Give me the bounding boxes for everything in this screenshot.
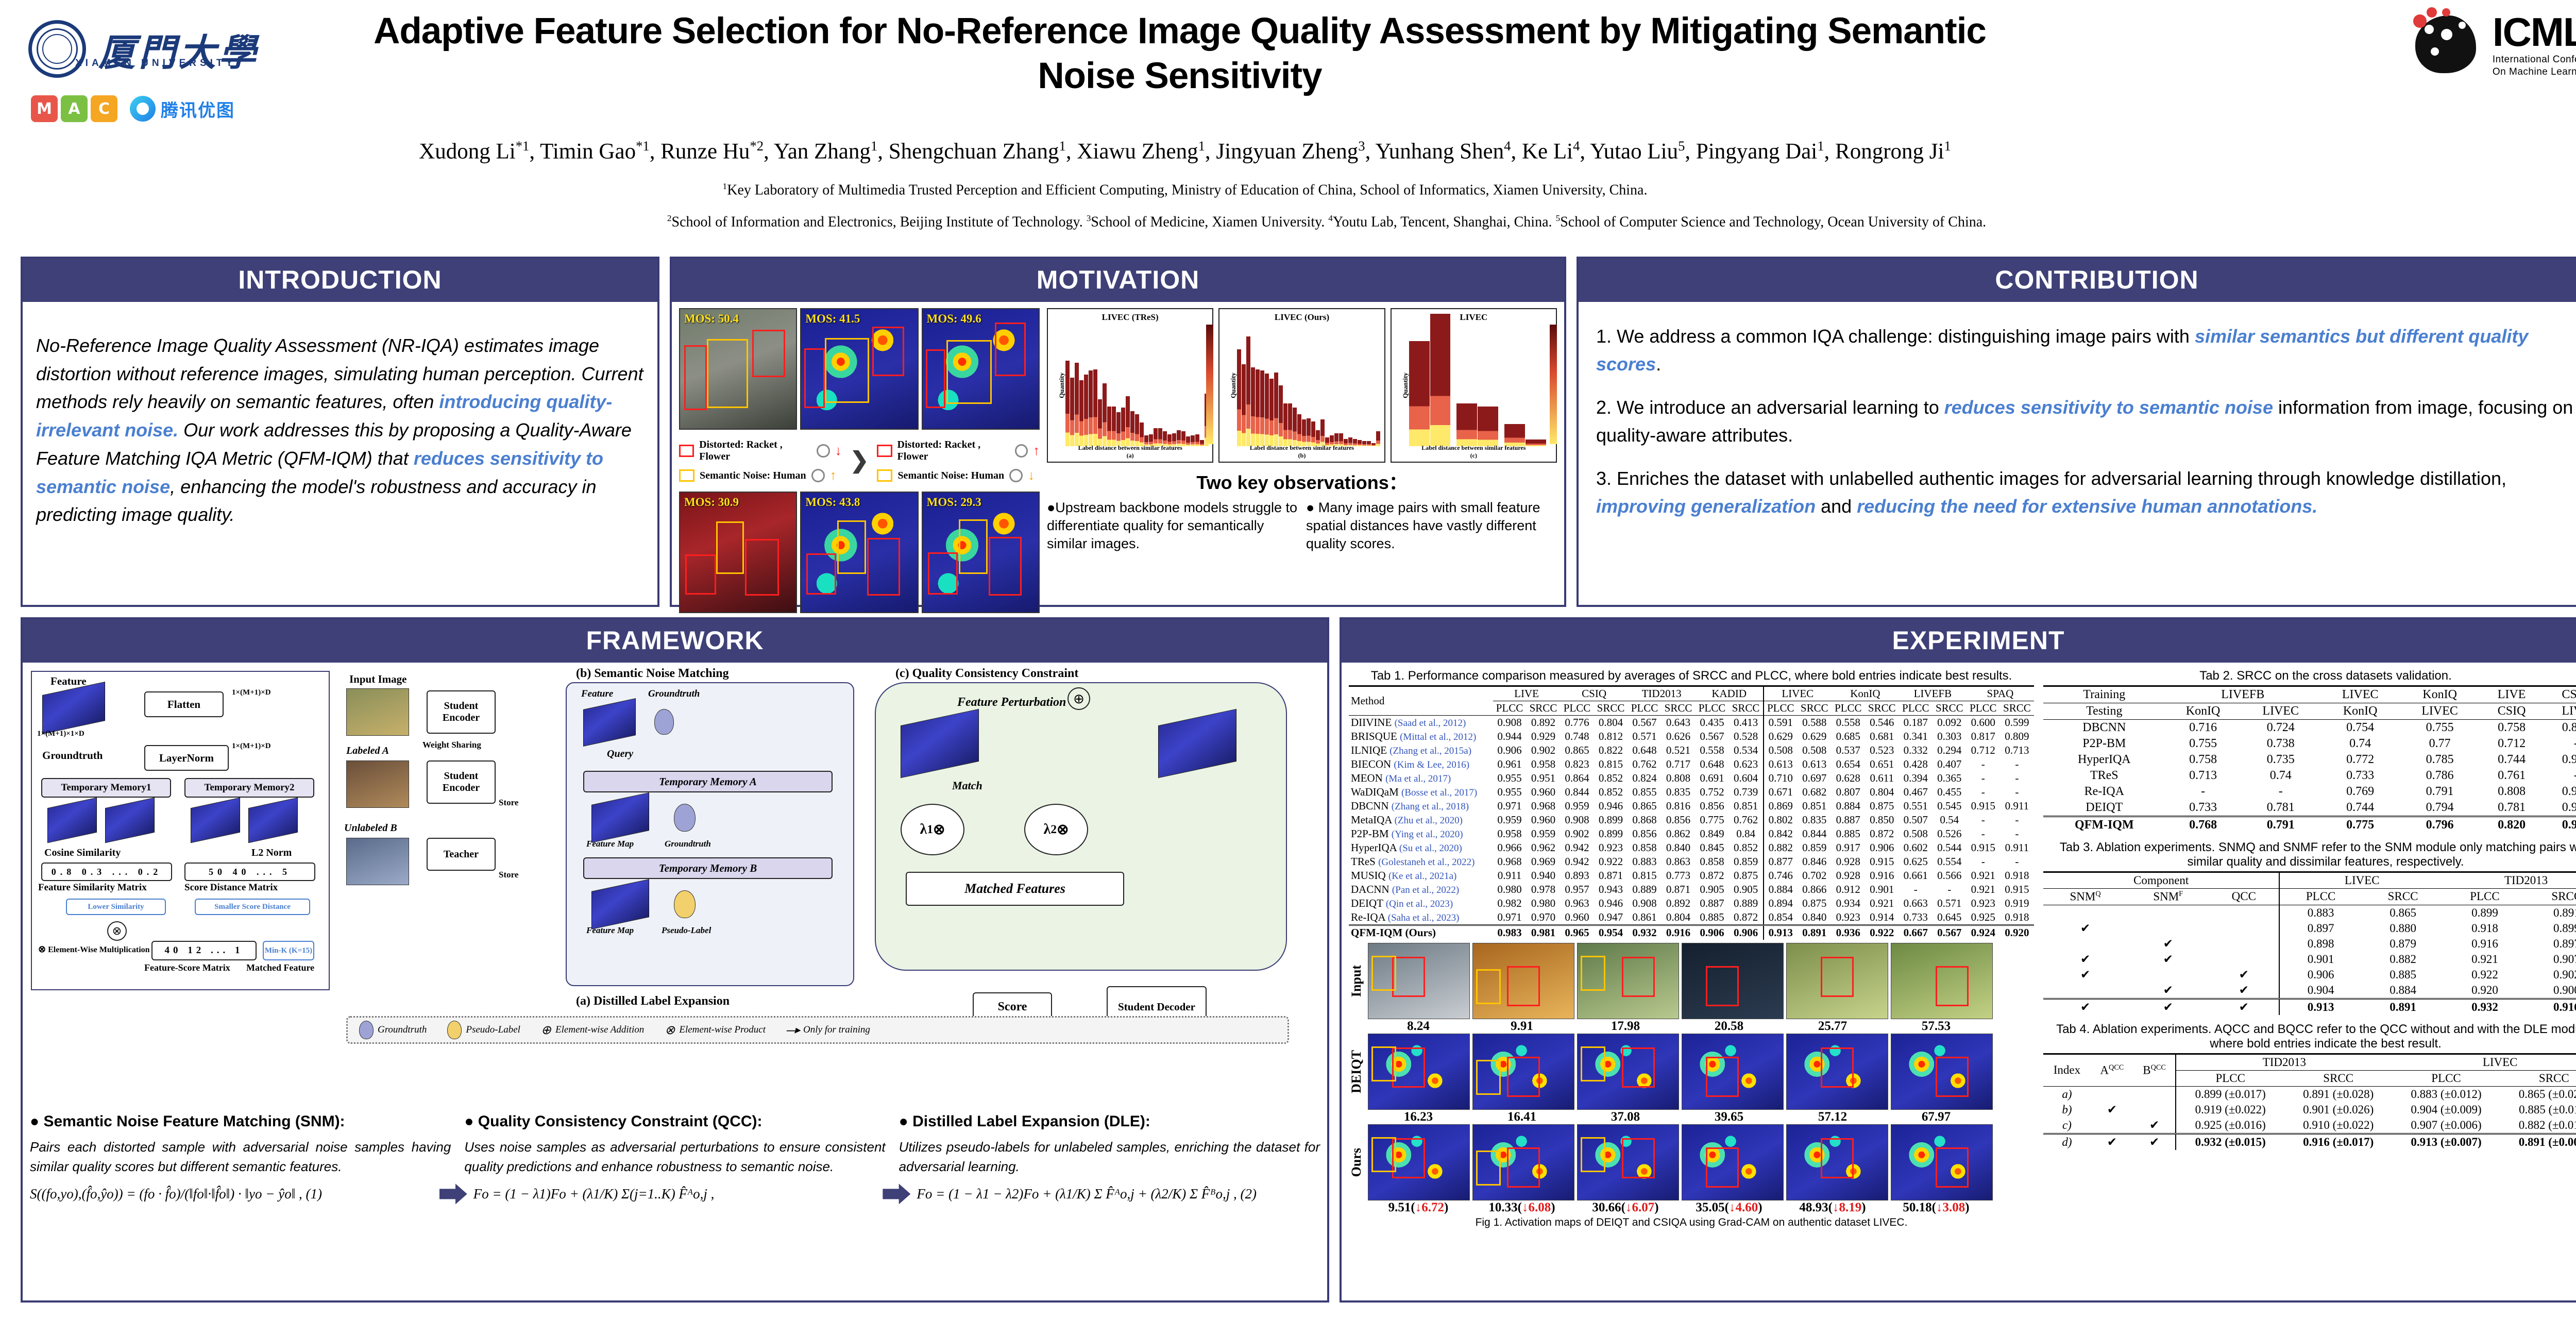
metric-value: 0.919 <box>2000 897 2034 910</box>
metric-value: 0.891 <box>2526 905 2576 921</box>
column-header: PLCC <box>2444 889 2525 905</box>
metric-value: 0.871 <box>1594 869 1628 883</box>
metric-value: 0.865 <box>1628 799 1662 813</box>
metric-value: 0.685 <box>1832 730 1865 743</box>
activation-map-cell <box>1368 1034 1470 1110</box>
bar <box>1293 408 1297 446</box>
block-temporary-memory-a[interactable]: Temporary Memory A <box>583 771 833 792</box>
experiment-body: Tab 1. Performance comparison measured b… <box>1342 663 2576 1234</box>
block-teacher[interactable]: Teacher <box>427 838 496 871</box>
metric-value: - <box>2000 771 2034 785</box>
plain-text: and <box>1816 496 1857 517</box>
metric-value: 0.960 <box>1561 910 1594 925</box>
metric-value: 0.710 <box>1764 771 1798 785</box>
metric-value: 0.923 <box>1967 897 2000 910</box>
metric-value: 0.940 <box>1526 869 1560 883</box>
checkmark-cell: ✔ <box>2127 952 2209 967</box>
method-name: P2P-BM (Ying et al., 2020) <box>1349 827 1493 841</box>
metric-value: 0.983 <box>1493 925 1527 940</box>
activation-map-cell <box>1682 1124 1784 1200</box>
testing-dataset: KonIQ <box>2165 703 2241 720</box>
framework-heading: FRAMEWORK <box>23 619 1327 663</box>
metric-value: 0.901 <box>2279 952 2362 967</box>
metric-value: 0.925 (±0.016) <box>2176 1118 2284 1134</box>
figure-1-activation-maps: Input <box>1349 943 2034 1215</box>
metric-value: 0.877 <box>1764 855 1798 869</box>
table-row: DEIQT (Qin et al., 2023)0.9820.9800.9630… <box>1349 897 2034 910</box>
xiamen-english-name: XIAMEN UNIVERSITY <box>75 58 236 69</box>
bar <box>1297 414 1301 446</box>
metric-value: 0.643 <box>1661 716 1695 730</box>
bar <box>1302 419 1306 446</box>
cross-dataset-table: TrainingLIVEFBLIVECKonIQLIVECSIQTestingK… <box>2043 685 2576 833</box>
column-header-index: Index <box>2043 1054 2091 1086</box>
metric-value: 0.835 <box>1661 785 1695 799</box>
srcc-value: 0.781 <box>2241 800 2320 817</box>
metric-value: 0.663 <box>1899 897 1933 910</box>
metric-value: 0.858 <box>1696 855 1729 869</box>
bar <box>1070 378 1074 446</box>
group-header: LIVEC <box>2392 1054 2576 1070</box>
metric-value: 0.852 <box>1594 771 1628 785</box>
semantic-noise-swatch-icon <box>877 469 892 482</box>
metric-header: SRCC <box>1933 701 1967 716</box>
metric-value: 0.648 <box>1628 743 1662 757</box>
flow-arrow-icon <box>439 1183 467 1204</box>
activation-map-cell <box>1577 1124 1679 1200</box>
srcc-value: 0.74 <box>2320 736 2400 752</box>
label-query: Query <box>607 748 633 760</box>
metric-value: 0.913 <box>2279 999 2362 1015</box>
tab1-table: MethodLIVECSIQTID2013KADIDLIVECKonIQLIVE… <box>1349 685 2034 940</box>
metric-value: 0.628 <box>1832 771 1865 785</box>
group-header: TID2013 <box>2444 872 2576 889</box>
metric-value: 0.905 <box>1728 883 1763 897</box>
metric-value: 0.842 <box>1764 827 1798 841</box>
bar <box>1135 414 1139 446</box>
metric-value: 0.883 <box>1628 855 1662 869</box>
chart-xlabel: Label distance between similar features(… <box>1392 444 1556 460</box>
block-student-encoder-1[interactable]: Student Encoder <box>427 690 496 734</box>
checkmark-cell <box>2043 936 2127 952</box>
method-citation: (Saad et al., 2012) <box>1395 718 1466 729</box>
method-name: WaDIQaM (Bosse et al., 2017) <box>1349 785 1493 799</box>
metric-value: 0.815 <box>1594 757 1628 771</box>
table-row: QFM-IQM0.7680.7910.7750.7960.8200.941 <box>2043 817 2576 834</box>
metric-value: 0.844 <box>1798 827 1832 841</box>
figure-score: 25.77 <box>1782 1019 1883 1034</box>
metric-value: 0.866 <box>1798 883 1832 897</box>
metric-value: 0.816 <box>1661 799 1695 813</box>
figure-1-caption: Fig 1. Activation maps of DEIQT and CSIQ… <box>1349 1216 2034 1229</box>
motivation-legend-left: Distorted: Racket , Flower ↓ Semantic No… <box>679 434 842 487</box>
legend-product: Element-wise Product <box>679 1024 766 1036</box>
table-row: MetaIQA (Zhu et al., 2020)0.9590.9600.90… <box>1349 813 2034 827</box>
metric-value: 0.922 <box>2444 967 2525 983</box>
icml-logo: ICML International Conference On Machine… <box>2415 11 2576 77</box>
metric-value: 0.613 <box>1764 757 1798 771</box>
row-index: d) <box>2043 1134 2091 1150</box>
bar <box>1279 385 1283 446</box>
label-feature-perturbation: Feature Perturbation <box>957 696 1066 709</box>
metric-value: 0.899 <box>1594 813 1628 827</box>
table-row: c)✔0.925 (±0.016)0.910 (±0.022)0.907 (±0… <box>2043 1118 2576 1134</box>
metric-value: 0.911 <box>1493 869 1527 883</box>
page-title: Adaptive Feature Selection for No-Refere… <box>330 9 2030 98</box>
method-citation: (Qin et al., 2023) <box>1386 899 1453 909</box>
table-row: ✔✔0.9040.8840.9200.900 <box>2043 983 2576 999</box>
metric-value: 0.712 <box>1967 743 2000 757</box>
table-row: ILNIQE (Zhang et al., 2015a)0.9060.9020.… <box>1349 743 2034 757</box>
metric-value: 0.875 <box>1798 897 1832 910</box>
figure-score: 48.93(↓8.19) <box>1782 1200 1883 1215</box>
checkmark-cell <box>2127 921 2209 936</box>
metric-value: 0.924 <box>1967 925 2000 940</box>
metric-value: 0.591 <box>1764 716 1798 730</box>
method-name: MUSIQ (Ke et al., 2021a) <box>1349 869 1493 883</box>
figure-score: 30.66(↓6.07) <box>1575 1200 1676 1215</box>
chart-bars <box>1409 327 1552 446</box>
metric-value: 0.869 <box>1764 799 1798 813</box>
label-feature-similarity-matrix: Feature Similarity Matrix <box>38 882 147 893</box>
legend-label-noise: Semantic Noise: Human <box>897 470 1004 482</box>
metric-value: - <box>1899 883 1933 897</box>
label-gt-a: Groundtruth <box>665 839 711 849</box>
metric-value: 0.932 (±0.015) <box>2176 1134 2284 1150</box>
bar <box>1065 361 1070 446</box>
metric-value: 0.802 <box>1764 813 1798 827</box>
experiment-heading: EXPERIMENT <box>1342 619 2576 663</box>
metric-value: 0.394 <box>1899 771 1933 785</box>
checkmark-cell: ✔ <box>2043 967 2127 983</box>
figure-score-row: 8.249.9117.9820.5825.7757.53 <box>1368 1019 2034 1034</box>
metric-value: 0.893 <box>1561 869 1594 883</box>
groundtruth-icon <box>359 1021 374 1039</box>
label-feature-map-a: Feature Map <box>586 839 634 849</box>
activation-map-cell <box>1682 1034 1784 1110</box>
bar <box>1242 364 1246 446</box>
metric-value: 0.921 <box>2444 952 2525 967</box>
metric-header: PLCC <box>1696 701 1729 716</box>
times-circle-icon: ⊗ <box>665 1023 675 1038</box>
framework-column-text: Uses noise samples as adversarial pertur… <box>464 1138 885 1176</box>
label-feature-b: Feature <box>581 688 613 700</box>
row-label-training: Training <box>2043 686 2165 703</box>
table-row: d)✔✔0.932 (±0.015)0.916 (±0.017)0.913 (±… <box>2043 1134 2576 1150</box>
metric-value: 0.959 <box>1493 813 1527 827</box>
srcc-value: 0.755 <box>2400 720 2479 736</box>
circle-icon <box>1015 444 1028 458</box>
srcc-value: 0.744 <box>2480 752 2544 768</box>
metric-value: 0.928 <box>1832 855 1865 869</box>
metric-value: 0.907 (±0.006) <box>2392 1118 2500 1134</box>
pseudo-label-icon <box>447 1021 462 1039</box>
checkmark-cell: ✔ <box>2209 983 2279 999</box>
figure-row-label: Input <box>1349 965 1365 997</box>
checkmark-cell: ✔ <box>2043 999 2127 1015</box>
metric-value: 0.84 <box>1728 827 1763 841</box>
metric-value: 0.809 <box>2000 730 2034 743</box>
figure-score: 57.53 <box>1886 1019 1987 1034</box>
metric-value: 0.942 <box>1561 855 1594 869</box>
method-citation: (Zhang et al., 2015a) <box>1389 746 1471 756</box>
metric-value: 0.566 <box>1933 869 1967 883</box>
metric-value: 0.980 <box>1493 883 1527 897</box>
metric-value: 0.717 <box>1661 757 1695 771</box>
plain-text: 1. We address a common IQA challenge: di… <box>1596 326 2195 347</box>
metric-value: 0.854 <box>1764 910 1798 925</box>
figure-score: 16.23 <box>1368 1110 1469 1124</box>
chart-3: LIVEC Quantity Label distance between si… <box>1391 308 1557 463</box>
block-temporary-memory-1[interactable]: Temporary Memory1 <box>41 778 171 798</box>
figure-score: 8.24 <box>1368 1019 1469 1034</box>
introduction-text: No-Reference Image Quality Assessment (N… <box>36 332 644 529</box>
metric-value: 0.852 <box>1594 785 1628 799</box>
metric-value: 0.921 <box>1967 883 2000 897</box>
plain-text: . <box>1656 353 1661 375</box>
bar <box>1237 349 1241 446</box>
metric-value: 0.682 <box>1798 785 1832 799</box>
column-header-aqcc: AQCC <box>2091 1054 2133 1086</box>
metric-value: 0.544 <box>1933 841 1967 855</box>
icml-subtitle-2: On Machine Learning <box>2493 67 2576 77</box>
metric-value: 0.883 (±0.012) <box>2392 1086 2500 1102</box>
mac-letter-m: M <box>31 95 58 122</box>
metric-value: 0.915 <box>2000 883 2034 897</box>
metric-value: 0.902 <box>1526 743 1560 757</box>
metric-value: 0.957 <box>1561 883 1594 897</box>
checkmark-cell <box>2133 1086 2176 1102</box>
ablation-table-4: IndexAQCCBQCCTID2013LIVECPLCCSRCCPLCCSRC… <box>2043 1053 2576 1150</box>
metric-value: 0.920 <box>2444 983 2525 999</box>
metric-value: 0.365 <box>1933 771 1967 785</box>
metric-value: 0.932 <box>2444 999 2525 1015</box>
contribution-item-1: 1. We address a common IQA challenge: di… <box>1596 323 2576 378</box>
metric-value: 0.187 <box>1899 716 1933 730</box>
framework-column-text: Utilizes pseudo-labels for unlabeled sam… <box>899 1138 1320 1176</box>
metric-value: 0.863 <box>1661 855 1695 869</box>
checkmark-cell <box>2127 967 2209 983</box>
table-row: TReS0.7130.740.7330.7860.761- <box>2043 768 2576 784</box>
metric-value: 0.891 (±0.009) <box>2500 1134 2576 1150</box>
metric-value: 0.898 <box>2279 936 2362 952</box>
metric-value: 0.835 <box>1798 813 1832 827</box>
arrow-up-icon: ↑ <box>830 468 837 483</box>
metric-value: 0.54 <box>1933 813 1967 827</box>
metric-value: 0.901 <box>1865 883 1899 897</box>
metric-header: SRCC <box>1728 701 1763 716</box>
label-pseudo-label-b: Pseudo-Label <box>662 925 711 936</box>
block-student-encoder-2[interactable]: Student Encoder <box>427 760 496 804</box>
metric-value: 0.773 <box>1661 869 1695 883</box>
icml-subtitle-1: International Conference <box>2493 55 2576 64</box>
sample-image-original-bottom: MOS: 30.9 <box>679 492 797 613</box>
metric-value: 0.934 <box>1832 897 1865 910</box>
checkmark-cell <box>2127 905 2209 921</box>
metric-value: 0.913 (±0.007) <box>2392 1134 2500 1150</box>
block-temporary-memory-2[interactable]: Temporary Memory2 <box>184 778 314 798</box>
metric-value: 0.521 <box>1661 743 1695 757</box>
table-row: Re-IQA--0.7690.7910.8080.929 <box>2043 784 2576 800</box>
testing-dataset: KonIQ <box>2320 703 2400 720</box>
bar <box>1456 403 1477 446</box>
metric-value: 0.804 <box>1661 910 1695 925</box>
training-dataset: LIVEFB <box>2165 686 2320 703</box>
metric-value: 0.852 <box>1728 841 1763 855</box>
training-dataset: LIVE <box>2480 686 2544 703</box>
sample-image-heat-top-1: MOS: 41.5 <box>800 308 918 430</box>
metric-value: 0.551 <box>1899 799 1933 813</box>
metric-header: PLCC <box>1832 701 1865 716</box>
label-store-1: Store <box>499 798 518 808</box>
metric-value: 0.872 <box>1696 869 1729 883</box>
bar <box>1140 422 1144 446</box>
table-row: WaDIQaM (Bosse et al., 2017)0.9550.9600.… <box>1349 785 2034 799</box>
metric-value: 0.966 <box>1493 841 1527 855</box>
column-header: SRCC <box>2526 889 2576 905</box>
motivation-row-top: MOS: 50.4 MOS: 41.5 MOS: 49.6 <box>679 308 1040 430</box>
metric-value: 0.508 <box>1899 827 1933 841</box>
framework-columns: ● Semantic Noise Feature Matching (SNM):… <box>30 1113 1320 1176</box>
label-labeled-set: Labeled A <box>346 745 389 757</box>
metric-value: 0.872 <box>1865 827 1899 841</box>
framework-equations: S((fo,yo),(f̂o,ŷo)) = (fo · f̂o)/(‖fo‖·‖… <box>30 1183 1320 1204</box>
block-temporary-memory-b[interactable]: Temporary Memory B <box>583 857 833 879</box>
table-row: Re-IQA (Saha et al., 2023)0.9710.9700.96… <box>1349 910 2034 925</box>
activation-map-cell <box>1891 943 1993 1019</box>
tab1-caption: Tab 1. Performance comparison measured b… <box>1349 669 2034 683</box>
highlight-text: reducing the need for extensive human an… <box>1857 496 2317 517</box>
metric-value: 0.968 <box>1493 855 1527 869</box>
introduction-heading: INTRODUCTION <box>23 259 657 302</box>
metric-value: 0.885 <box>2362 967 2444 983</box>
metric-value: 0.804 <box>1594 716 1628 730</box>
method-name: TReS (Golestaneh et al., 2022) <box>1349 855 1493 869</box>
metric-value: 0.920 <box>2000 925 2034 940</box>
training-dataset: KonIQ <box>2400 686 2479 703</box>
arrow-down-icon: ↓ <box>1028 468 1035 483</box>
table-row: HyperIQA (Su et al., 2020)0.9660.9620.94… <box>1349 841 2034 855</box>
table-row: ✔0.8970.8800.9180.899 <box>2043 921 2576 936</box>
label-smaller-score-distance: Smaller Score Distance <box>195 899 310 915</box>
observations: ●Upstream backbone models struggle to di… <box>1047 499 1557 553</box>
introduction-body: No-Reference Image Quality Assessment (N… <box>23 302 657 559</box>
figure-row-ours: Ours <box>1349 1124 2034 1200</box>
distorted-swatch-icon <box>679 445 694 457</box>
bar <box>1504 424 1525 446</box>
metric-value: 0.915 <box>1967 841 2000 855</box>
metric-value: 0.906 <box>1865 841 1899 855</box>
thumb-input-image <box>346 688 409 736</box>
matrix-similarity-values: 0.8 0.3 ... 0.2 <box>41 863 172 881</box>
icon-pseudo-label-b <box>674 890 696 918</box>
metric-value: 0.823 <box>1561 757 1594 771</box>
metric-value: 0.623 <box>1728 757 1763 771</box>
metric-value: 0.861 <box>1628 910 1662 925</box>
metric-value: 0.965 <box>1561 925 1594 940</box>
metric-value: 0.875 <box>1865 799 1899 813</box>
mos-label: MOS: 43.8 <box>805 496 860 509</box>
table-row: P2P-BM0.7550.7380.740.770.712- <box>2043 736 2576 752</box>
metric-value: 0.776 <box>1561 716 1594 730</box>
metric-value: 0.467 <box>1899 785 1933 799</box>
chart-title: LIVEC <box>1395 312 1553 323</box>
metric-value: 0.822 <box>1594 743 1628 757</box>
metric-value: 0.567 <box>1696 730 1729 743</box>
label-feature-score-matrix: Feature-Score Matrix <box>144 962 230 973</box>
block-flatten[interactable]: Flatten <box>144 691 224 717</box>
motivation-body: MOS: 50.4 MOS: 41.5 MOS: 49.6 <box>672 302 1564 643</box>
label-groundtruth-b: Groundtruth <box>648 688 700 700</box>
metric-value: 0.611 <box>1865 771 1899 785</box>
equation-1: S((fo,yo),(f̂o,ŷo)) = (fo · f̂o)/(‖fo‖·‖… <box>30 1186 433 1202</box>
group-header: LIVEC <box>2279 872 2444 889</box>
label-weight-sharing: Weight Sharing <box>422 740 481 750</box>
metric-value: 0.702 <box>1798 869 1832 883</box>
metric-header: SRCC <box>1798 701 1832 716</box>
metric-value: 0.571 <box>1628 730 1662 743</box>
figure-score: 10.33(↓6.08) <box>1471 1200 1572 1215</box>
metric-header: SRCC <box>1661 701 1695 716</box>
method-citation: (Saha et al., 2023) <box>1388 912 1460 923</box>
column-header: SRCC <box>2284 1070 2392 1086</box>
checkmark-cell <box>2209 921 2279 936</box>
metric-header: SRCC <box>2000 701 2034 716</box>
srcc-value: 0.781 <box>2480 800 2544 817</box>
icon-gt-a <box>674 804 696 832</box>
checkmark-cell: ✔ <box>2209 999 2279 1015</box>
metric-value: 0.912 <box>1832 883 1865 897</box>
metric-value: 0.918 <box>2444 921 2525 936</box>
activation-map-cell <box>1786 1124 1888 1200</box>
testing-dataset: CSIQ <box>2480 703 2544 720</box>
icml-title: ICML <box>2493 12 2576 52</box>
method-name: BRISQUE (Mittal et al., 2012) <box>1349 730 1493 743</box>
srcc-value: 0.758 <box>2165 752 2241 768</box>
metric-header: PLCC <box>1493 701 1527 716</box>
chart-title: LIVEC (TReS) <box>1051 312 1209 323</box>
equation-2: Fo = (1 − λ1)Fo + (λ1/K) Σ(j=1..K) F̂ᴬo,… <box>473 1186 877 1202</box>
mos-label: MOS: 49.6 <box>927 312 981 326</box>
icml-brain-icon <box>2415 11 2481 77</box>
observation-2: ● Many image pairs with small feature sp… <box>1306 499 1557 553</box>
method-name: Re-IQA <box>2043 784 2165 800</box>
table-row: ✔✔0.9010.8820.9210.907 <box>2043 952 2576 967</box>
metric-value: 0.918 <box>2000 869 2034 883</box>
metric-value: 0.921 <box>1865 897 1899 910</box>
metric-value: 0.916 <box>2526 999 2576 1015</box>
table-row: DBCNN (Zhang et al., 2018)0.9710.9680.95… <box>1349 799 2034 813</box>
column-header: SNMQ <box>2043 889 2127 905</box>
metric-value: 0.971 <box>1493 799 1527 813</box>
srcc-value: 0.772 <box>2320 752 2400 768</box>
sample-image-heat-bottom-2: MOS: 29.3 <box>922 492 1040 613</box>
metric-value: 0.916 <box>1865 869 1899 883</box>
checkmark-cell: ✔ <box>2043 921 2127 936</box>
metric-value: 0.982 <box>1493 897 1527 910</box>
matrix-score-values: 50 40 ... 5 <box>184 863 315 881</box>
block-matched-features[interactable]: Matched Features <box>906 872 1124 906</box>
srcc-value: 0.713 <box>2165 768 2241 784</box>
plus-icon: ⊕ <box>1067 687 1090 710</box>
metric-value: 0.558 <box>1696 743 1729 757</box>
metric-value: 0.884 <box>1764 883 1798 897</box>
block-layernorm[interactable]: LayerNorm <box>144 745 229 771</box>
framework-column-2: ● Quality Consistency Constraint (QCC): … <box>464 1113 885 1176</box>
metric-value: - <box>1967 785 2000 799</box>
checkmark-cell <box>2209 936 2279 952</box>
table-row: MEON (Ma et al., 2017)0.9550.9510.8640.8… <box>1349 771 2034 785</box>
